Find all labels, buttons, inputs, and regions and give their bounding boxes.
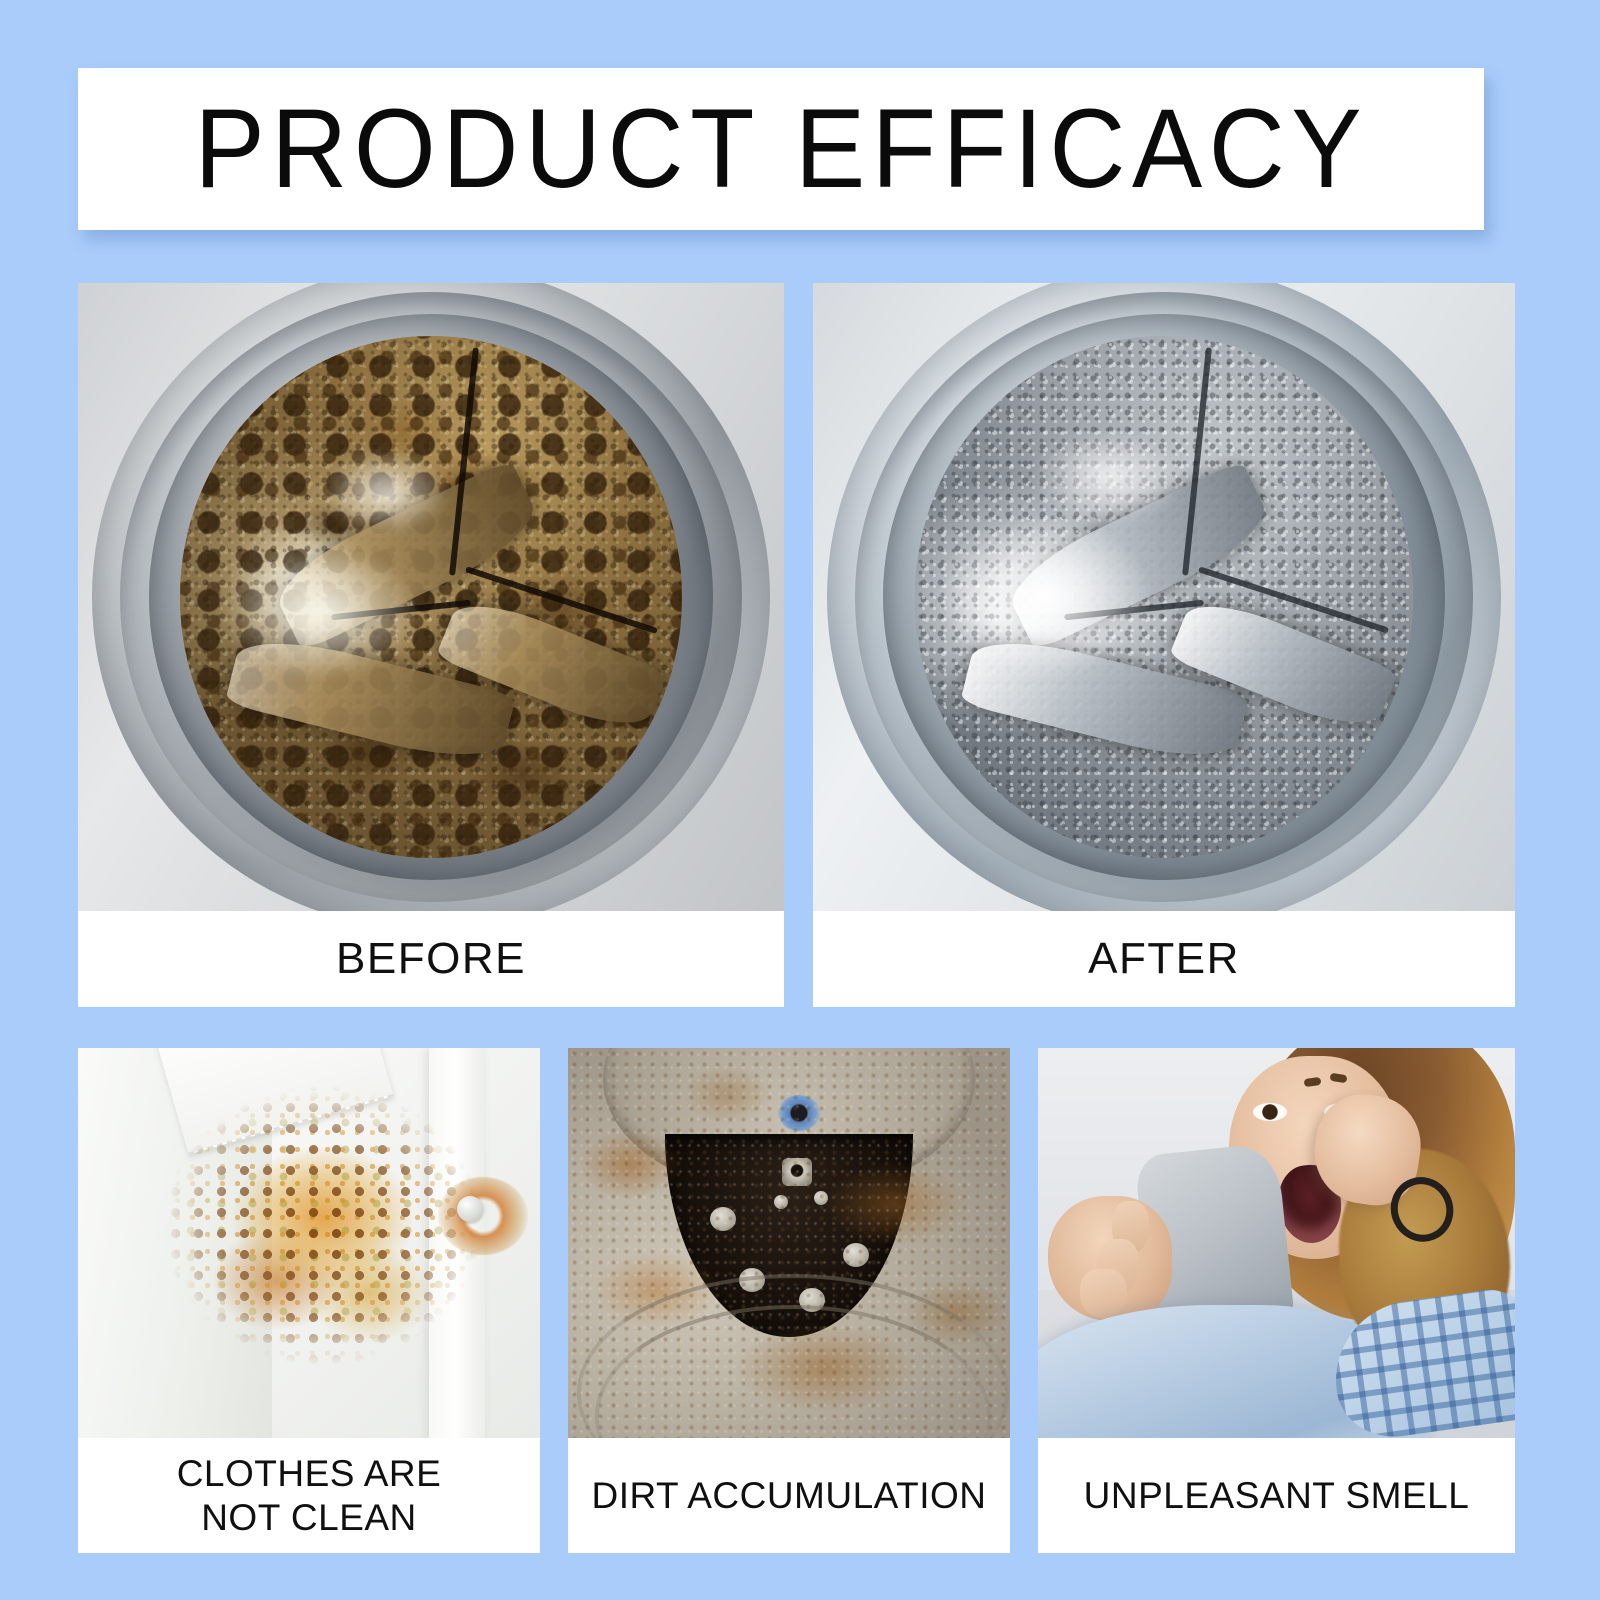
clothes-not-clean-caption: CLOTHES ARE NOT CLEAN xyxy=(78,1438,540,1553)
washer-drum-dirty-icon xyxy=(78,283,784,911)
eye-left xyxy=(1253,1103,1287,1121)
rusty-drum-photo xyxy=(568,1048,1010,1438)
clothes-not-clean-label: CLOTHES ARE NOT CLEAN xyxy=(177,1452,442,1539)
page-title: PRODUCT EFFICACY xyxy=(194,93,1368,205)
caption-line-2: NOT CLEAN xyxy=(201,1497,417,1538)
before-photo xyxy=(78,283,784,911)
caption-line-1: CLOTHES ARE xyxy=(177,1453,442,1494)
food-stain-specks xyxy=(161,1071,484,1414)
drum-opening xyxy=(180,336,681,857)
before-caption: BEFORE xyxy=(78,911,784,1007)
after-caption-label: AFTER xyxy=(1088,933,1240,985)
after-photo xyxy=(813,283,1515,911)
unpleasant-smell-panel: UNPLEASANT SMELL xyxy=(1038,1048,1515,1553)
rusty-drum-icon xyxy=(568,1048,1010,1438)
eyebrow-left xyxy=(1304,1077,1322,1087)
before-panel: BEFORE xyxy=(78,283,784,1007)
bad-smell-photo xyxy=(1038,1048,1515,1438)
drum-highlight xyxy=(935,514,1154,681)
drum-highlight xyxy=(321,451,451,534)
before-caption-label: BEFORE xyxy=(336,933,526,985)
unpleasant-smell-label: UNPLEASANT SMELL xyxy=(1084,1474,1470,1518)
drum-highlight xyxy=(220,545,421,681)
after-panel: AFTER xyxy=(813,283,1515,1007)
shirt-button xyxy=(457,1196,483,1222)
unpleasant-smell-caption: UNPLEASANT SMELL xyxy=(1038,1438,1515,1553)
stain-around-button xyxy=(438,1177,528,1255)
hand-holding-laundry xyxy=(1048,1196,1172,1321)
dirt-accumulation-caption: DIRT ACCUMULATION xyxy=(568,1438,1010,1553)
washer-drum-clean-icon xyxy=(813,283,1515,911)
dirt-accumulation-label: DIRT ACCUMULATION xyxy=(592,1474,987,1518)
clothes-not-clean-panel: CLOTHES ARE NOT CLEAN xyxy=(78,1048,540,1553)
drum-highlight xyxy=(1034,430,1184,524)
finger xyxy=(1080,1269,1127,1319)
after-caption: AFTER xyxy=(813,911,1515,1007)
drum-interior-dirty xyxy=(180,336,681,857)
stained-shirt-photo xyxy=(78,1048,540,1438)
eyebrow-right xyxy=(1330,1073,1348,1084)
bad-smell-icon xyxy=(1038,1048,1515,1438)
stained-shirt-icon xyxy=(78,1048,540,1438)
drum-interior-clean xyxy=(915,336,1413,857)
drum-opening xyxy=(915,336,1413,857)
title-banner: PRODUCT EFFICACY xyxy=(78,68,1484,230)
dirt-accumulation-panel: DIRT ACCUMULATION xyxy=(568,1048,1010,1553)
